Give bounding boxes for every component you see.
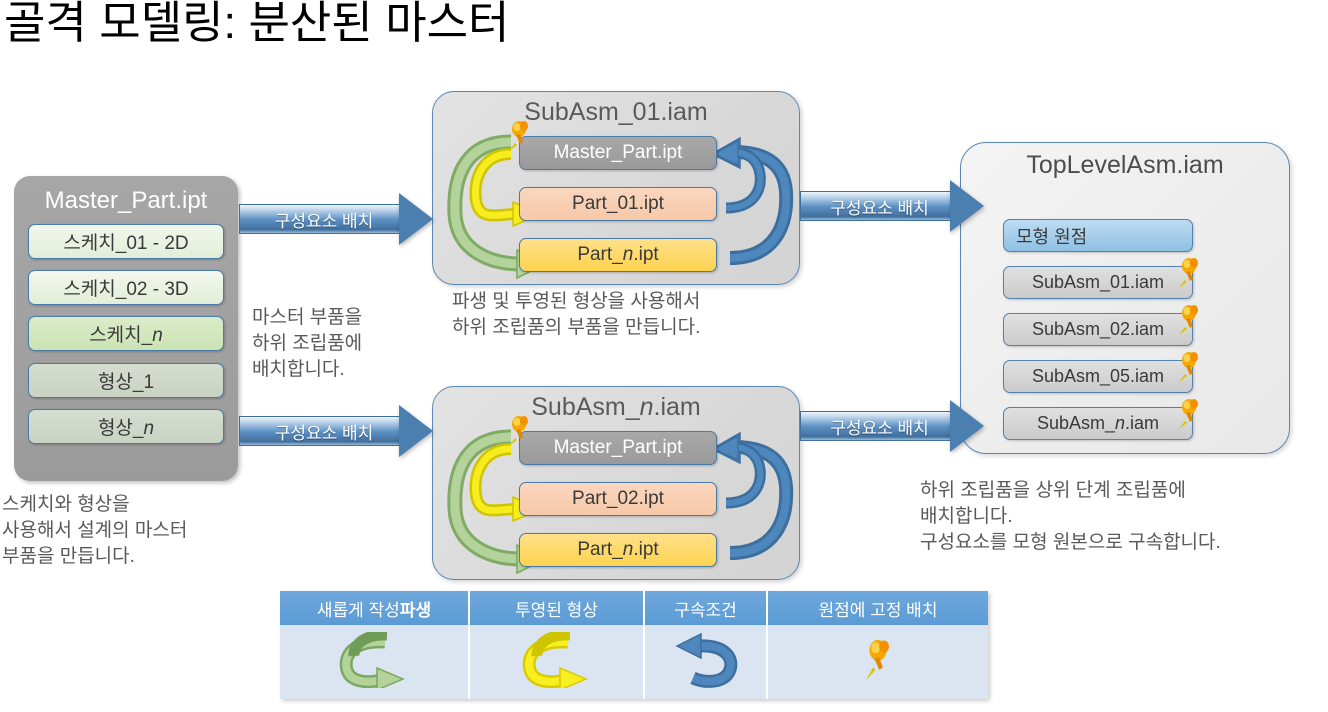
subasm-n-item-master-part[interactable]: Master_Part.ipt	[519, 431, 717, 465]
subasm-item-label: Part_n.ipt	[577, 244, 658, 266]
legend-header-text: 투영된 형상	[515, 596, 598, 621]
toplevel-item-model-origin[interactable]: 모형 원점	[1003, 219, 1193, 252]
master-part-panel[interactable]: Master_Part.ipt 스케치_01 - 2D 스케치_02 - 3D …	[14, 176, 238, 481]
arrow-place-component-subasm-n-to-toplevel[interactable]: 구성요소 배치	[800, 400, 985, 452]
arrow-place-component-subasm-01-to-toplevel[interactable]: 구성요소 배치	[800, 180, 985, 232]
pushpin-icon	[862, 638, 894, 687]
toplevel-item-label: 모형 원점	[1016, 223, 1087, 249]
toplevel-item-subasm-05[interactable]: SubAsm_05.iam	[1003, 360, 1193, 393]
arrow-label: 구성요소 배치	[800, 411, 985, 441]
legend-header-grounded-at-origin: 원점에 고정 배치	[768, 591, 988, 625]
subasm-item-label: Part_n.ipt	[577, 539, 658, 561]
legend-cell-grounded-at-origin	[768, 625, 988, 699]
toplevel-item-label: SubAsm_n.iam	[1037, 413, 1159, 434]
toplevel-item-label: SubAsm_05.iam	[1032, 366, 1164, 387]
toplevel-item-subasm-01[interactable]: SubAsm_01.iam	[1003, 266, 1193, 299]
master-item-sketch-02[interactable]: 스케치_02 - 3D	[28, 270, 224, 305]
master-item-label: 스케치_n	[89, 320, 163, 347]
subasm-n-item-part-02[interactable]: Part_02.ipt	[519, 482, 717, 516]
toplevel-asm-panel-title: TopLevelAsm.iam	[961, 151, 1289, 180]
subasm-n-panel-title: SubAsm_n.iam	[433, 393, 799, 422]
subasm-item-label: Part_02.ipt	[572, 488, 664, 510]
master-part-panel-title: Master_Part.ipt	[14, 187, 238, 215]
legend-header-text: 구속조건	[674, 596, 737, 621]
subasm-01-item-part-01[interactable]: Part_01.ipt	[519, 187, 717, 221]
legend-header-bold-text: 파생	[400, 596, 431, 621]
subasm-n-panel[interactable]: SubAsm_n.iam Master_Part.ipt Part_02.ipt…	[432, 386, 800, 580]
subasm-01-panel[interactable]: SubAsm_01.iam Master_Part.ipt Part_01.ip…	[432, 91, 800, 285]
blue-curved-arrow-icon	[673, 632, 739, 693]
legend-header-derive: 새롭게 작성 파생	[280, 591, 470, 625]
subasm-01-item-master-part[interactable]: Master_Part.ipt	[519, 136, 717, 170]
legend-header-row: 새롭게 작성 파생 투영된 형상 구속조건 원점에 고정 배치	[280, 591, 988, 625]
master-item-label: 스케치_01 - 2D	[63, 228, 188, 255]
subasm-item-label: Master_Part.ipt	[554, 142, 683, 164]
toplevel-item-label: SubAsm_02.iam	[1032, 319, 1164, 340]
subasm-item-label: Master_Part.ipt	[554, 437, 683, 459]
master-item-sketch-n[interactable]: 스케치_n	[28, 316, 224, 351]
arrow-place-component-master-to-subasm-01[interactable]: 구성요소 배치	[239, 193, 435, 245]
subasm-item-label: Part_01.ipt	[572, 193, 664, 215]
arrow-label: 구성요소 배치	[239, 416, 435, 446]
yellow-curved-arrow-icon	[520, 632, 594, 693]
caption-derive-project: 파생 및 투영된 형상을 사용해서 하위 조립품의 부품을 만듭니다.	[452, 289, 802, 341]
page-title: 골격 모델링: 분산된 마스터	[4, 0, 904, 52]
legend-header-text: 원점에 고정 배치	[819, 596, 938, 621]
legend-header-projected-geometry: 투영된 형상	[470, 591, 645, 625]
legend-table: 새롭게 작성 파생 투영된 형상 구속조건 원점에 고정 배치	[280, 591, 988, 699]
master-item-label: 형상_1	[98, 367, 154, 394]
arrow-label: 구성요소 배치	[239, 204, 435, 234]
legend-icon-row	[280, 625, 988, 699]
subasm-n-item-part-n[interactable]: Part_n.ipt	[519, 533, 717, 567]
legend-cell-derive	[280, 625, 470, 699]
master-item-feature-n[interactable]: 형상_n	[28, 409, 224, 444]
toplevel-item-label: SubAsm_01.iam	[1032, 272, 1164, 293]
master-item-sketch-01[interactable]: 스케치_01 - 2D	[28, 224, 224, 259]
caption-master-part: 스케치와 형상을 사용해서 설계의 마스터 부품을 만듭니다.	[2, 492, 272, 570]
master-item-feature-1[interactable]: 형상_1	[28, 363, 224, 398]
caption-place-subassembly: 하위 조립품을 상위 단계 조립품에 배치합니다. 구성요소를 모형 원본으로 …	[920, 478, 1328, 556]
subasm-01-panel-title: SubAsm_01.iam	[433, 98, 799, 127]
caption-place-master-part: 마스터 부품을 하위 조립품에 배치합니다.	[252, 305, 442, 383]
subasm-01-item-part-n[interactable]: Part_n.ipt	[519, 238, 717, 272]
legend-cell-constraint	[645, 625, 768, 699]
toplevel-asm-panel[interactable]: TopLevelAsm.iam 모형 원점 SubAsm_01.iam SubA…	[960, 142, 1290, 454]
legend-header-text: 새롭게 작성	[317, 596, 400, 621]
legend-cell-projected-geometry	[470, 625, 645, 699]
green-curved-arrow-icon	[337, 632, 411, 693]
toplevel-item-subasm-n[interactable]: SubAsm_n.iam	[1003, 407, 1193, 440]
master-item-label: 스케치_02 - 3D	[63, 274, 188, 301]
arrow-label: 구성요소 배치	[800, 191, 985, 221]
arrow-place-component-master-to-subasm-n[interactable]: 구성요소 배치	[239, 405, 435, 457]
toplevel-item-subasm-02[interactable]: SubAsm_02.iam	[1003, 313, 1193, 346]
master-item-label: 형상_n	[98, 413, 154, 440]
legend-header-constraint: 구속조건	[645, 591, 768, 625]
